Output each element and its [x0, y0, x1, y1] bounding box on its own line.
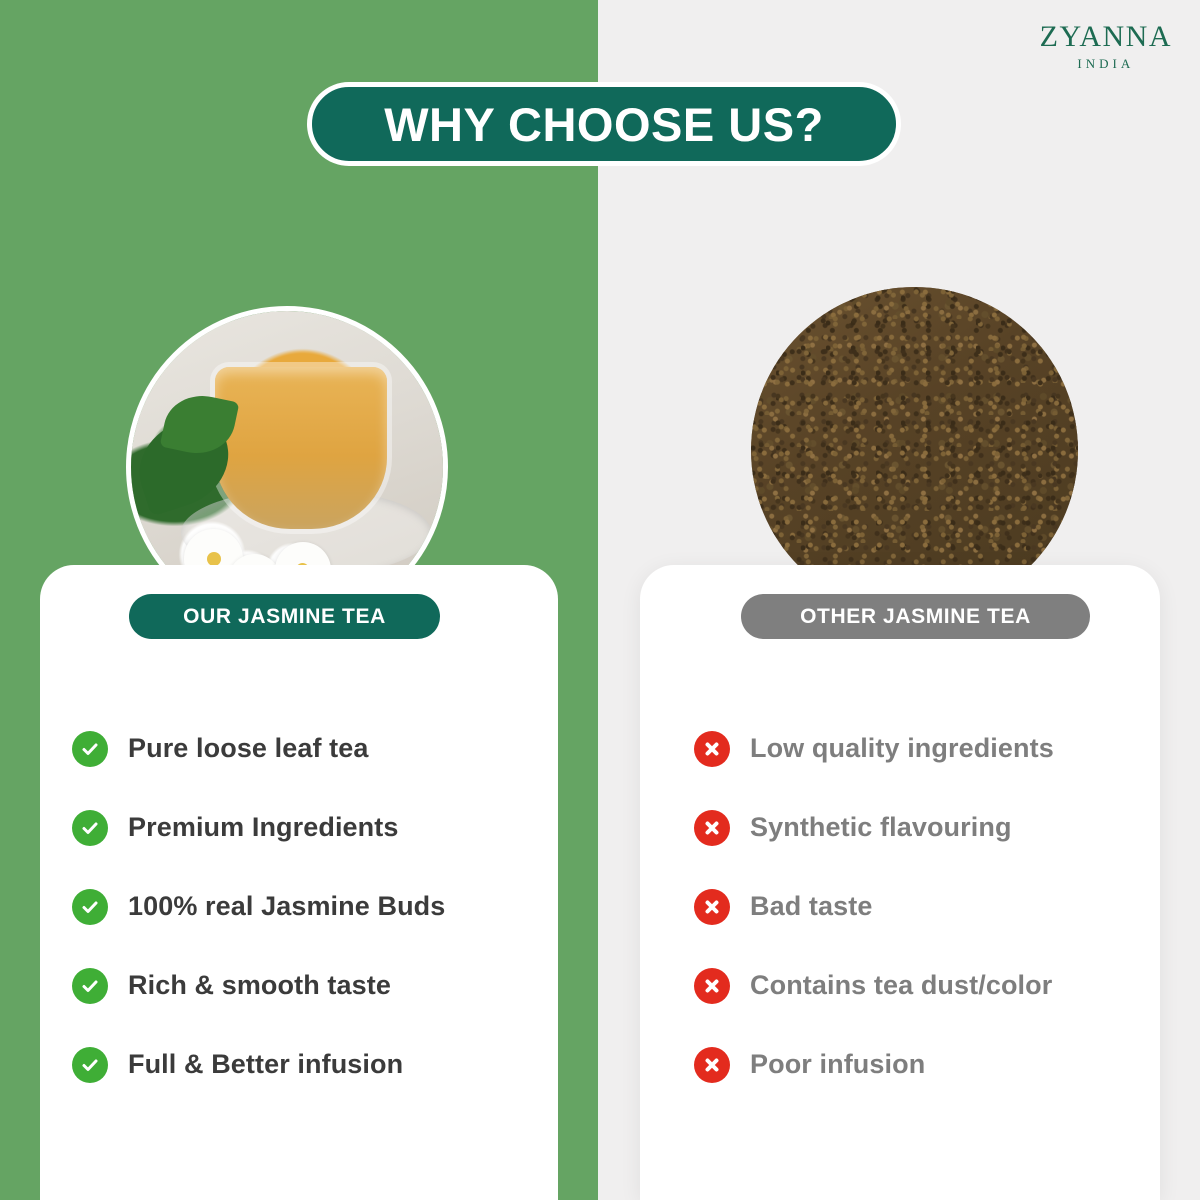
feature-label: Low quality ingredients — [750, 733, 1054, 764]
list-item: Pure loose leaf tea — [72, 709, 445, 788]
check-circle-icon — [72, 1047, 108, 1083]
check-circle-icon — [72, 731, 108, 767]
other-tea-badge-label: OTHER JASMINE TEA — [800, 605, 1031, 629]
brand-country: INDIA — [1040, 57, 1172, 70]
list-item: 100% real Jasmine Buds — [72, 867, 445, 946]
list-item: Full & Better infusion — [72, 1025, 445, 1104]
list-item: Poor infusion — [694, 1025, 1054, 1104]
teacup-shape — [215, 367, 387, 529]
list-item: Premium Ingredients — [72, 788, 445, 867]
list-item: Contains tea dust/color — [694, 946, 1054, 1025]
check-circle-icon — [72, 968, 108, 1004]
our-tea-badge: OUR JASMINE TEA — [129, 594, 440, 639]
our-tea-badge-label: OUR JASMINE TEA — [183, 605, 386, 629]
feature-label: Premium Ingredients — [128, 812, 398, 843]
feature-label: Bad taste — [750, 891, 872, 922]
list-item: Rich & smooth taste — [72, 946, 445, 1025]
other-tea-badge: OTHER JASMINE TEA — [741, 594, 1090, 639]
page-title: WHY CHOOSE US? — [384, 97, 824, 152]
feature-label: Synthetic flavouring — [750, 812, 1012, 843]
cross-circle-icon — [694, 731, 730, 767]
list-item: Low quality ingredients — [694, 709, 1054, 788]
cross-circle-icon — [694, 889, 730, 925]
list-item: Synthetic flavouring — [694, 788, 1054, 867]
feature-label: Contains tea dust/color — [750, 970, 1052, 1001]
other-tea-feature-list: Low quality ingredients Synthetic flavou… — [694, 709, 1054, 1104]
check-circle-icon — [72, 889, 108, 925]
feature-label: Rich & smooth taste — [128, 970, 391, 1001]
check-circle-icon — [72, 810, 108, 846]
feature-label: Full & Better infusion — [128, 1049, 403, 1080]
feature-label: Poor infusion — [750, 1049, 925, 1080]
list-item: Bad taste — [694, 867, 1054, 946]
header-banner: WHY CHOOSE US? — [307, 82, 901, 166]
feature-label: Pure loose leaf tea — [128, 733, 369, 764]
our-tea-feature-list: Pure loose leaf tea Premium Ingredients … — [72, 709, 445, 1104]
cross-circle-icon — [694, 810, 730, 846]
cross-circle-icon — [694, 968, 730, 1004]
brand-name: ZYANNA — [1040, 22, 1172, 52]
cross-circle-icon — [694, 1047, 730, 1083]
brand-logo: ZYANNA INDIA — [1040, 22, 1172, 70]
feature-label: 100% real Jasmine Buds — [128, 891, 445, 922]
